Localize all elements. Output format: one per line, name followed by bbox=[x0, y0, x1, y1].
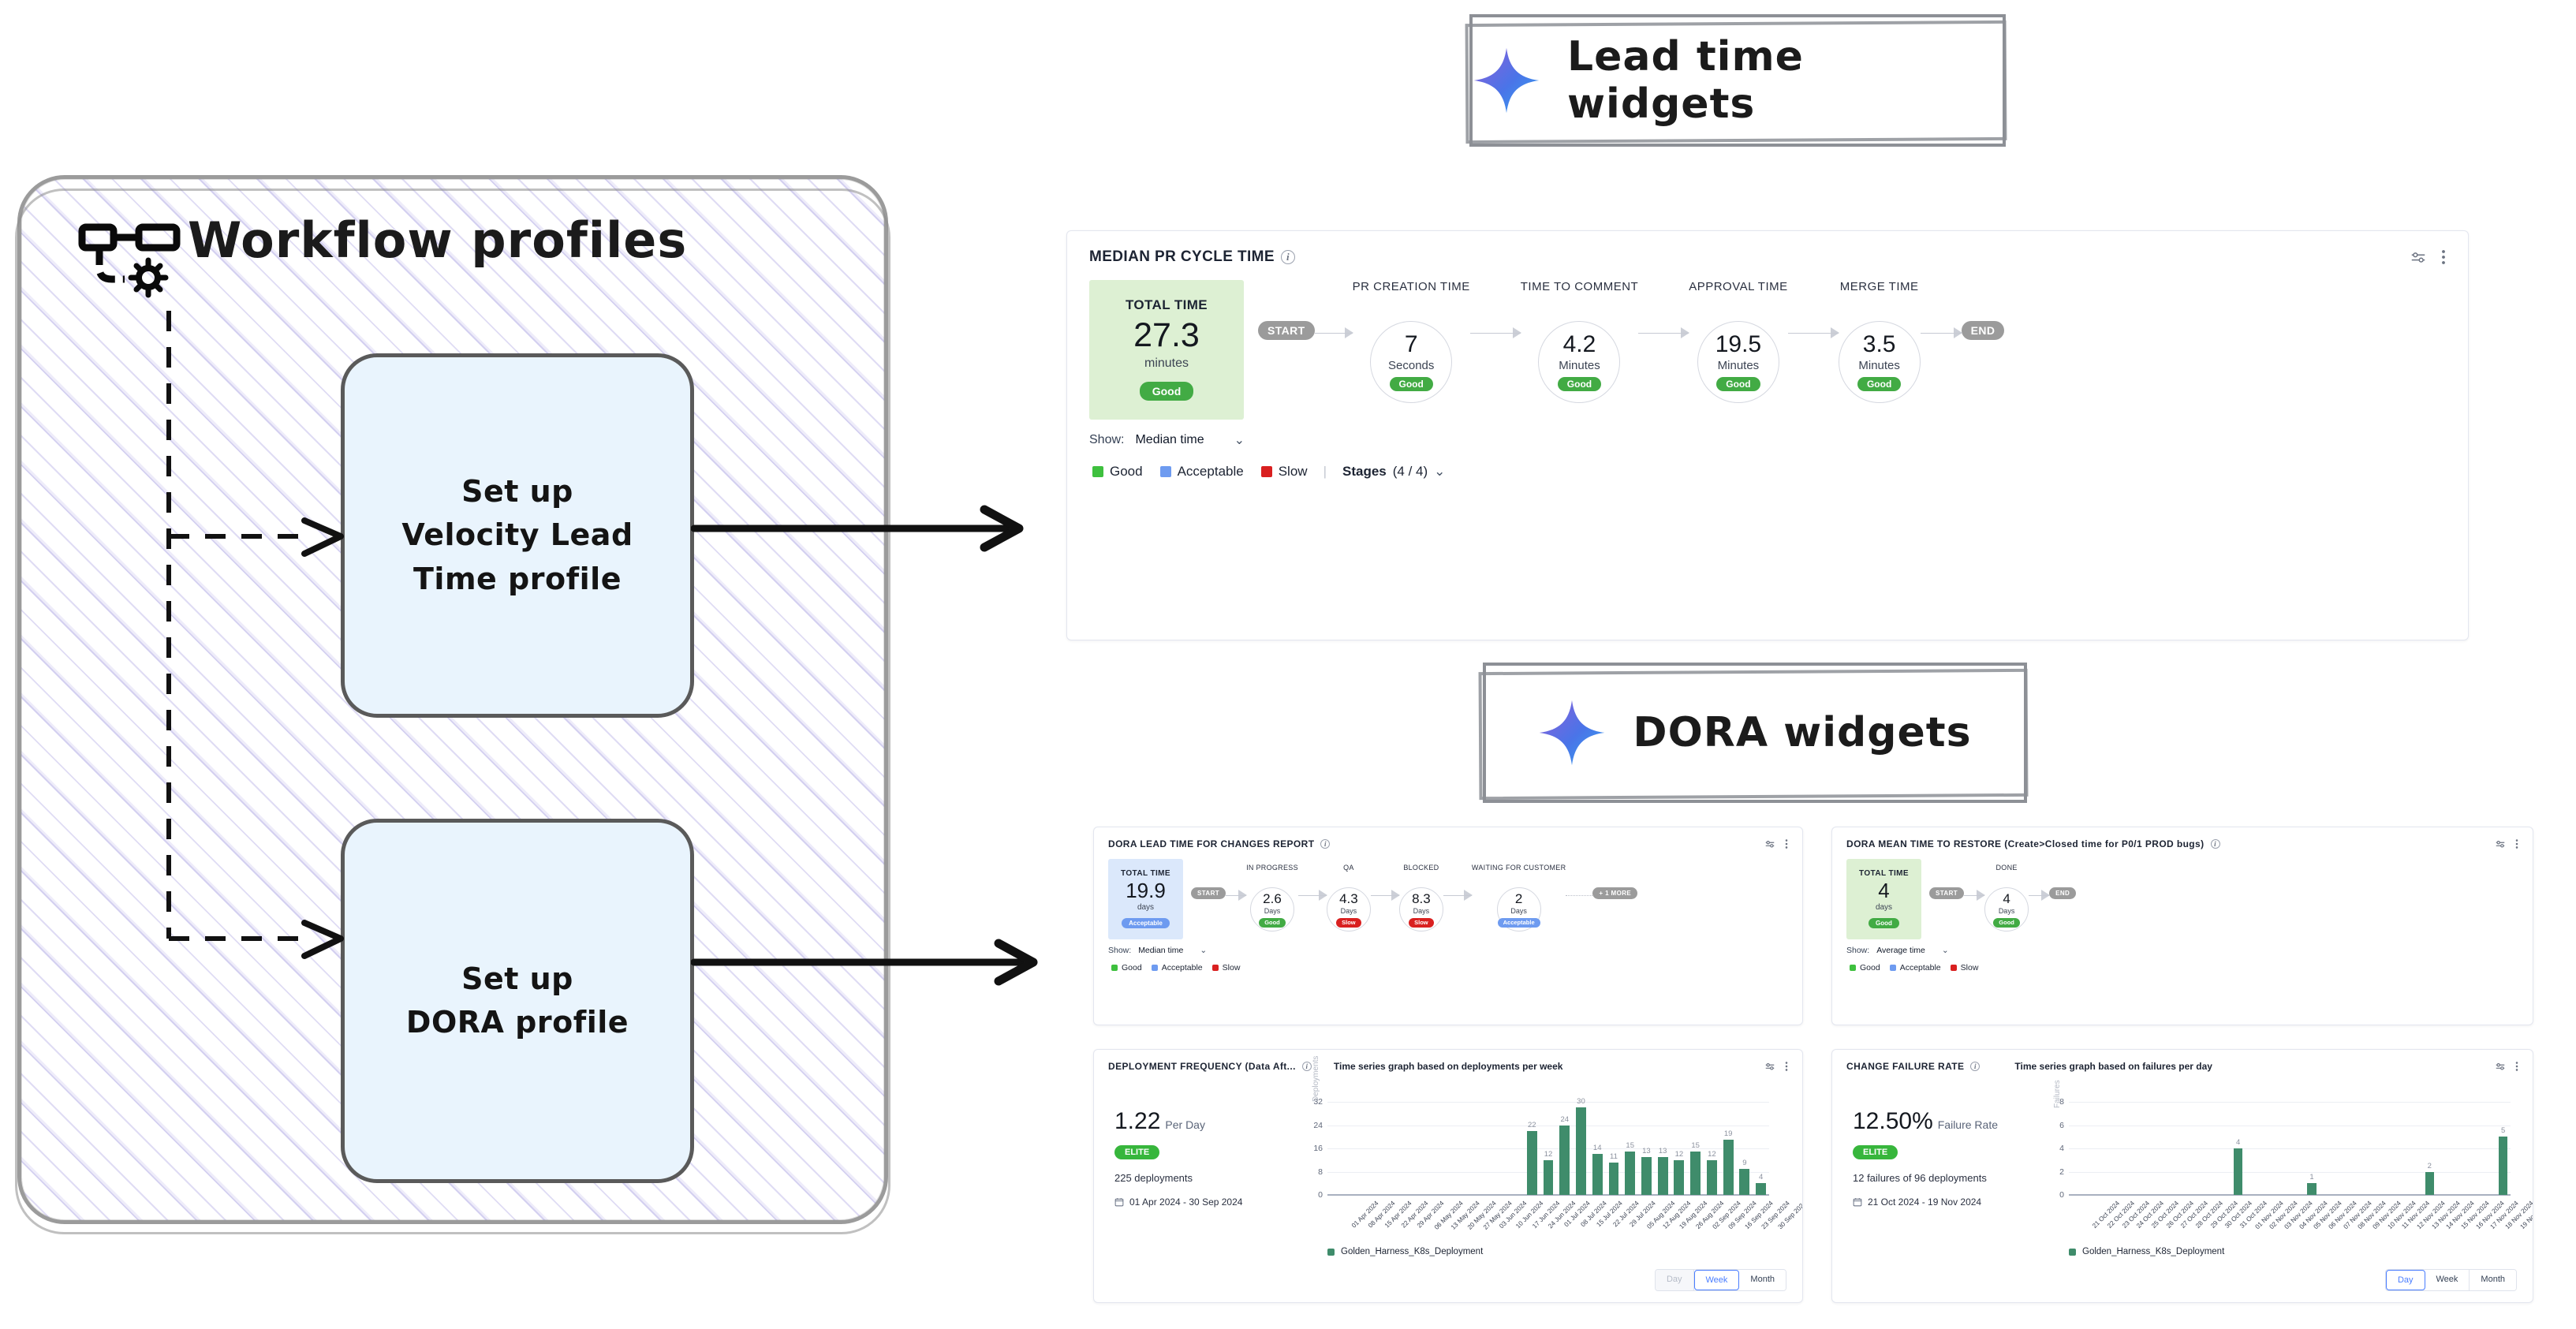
y-axis-tick: 0 bbox=[2045, 1190, 2064, 1200]
more-vertical-icon[interactable] bbox=[2515, 838, 2518, 849]
bar-value-label: 12 bbox=[1675, 1150, 1684, 1159]
sparkle-icon bbox=[1473, 47, 1540, 114]
kpi-block: 1.22 Per Day ELITE 225 deployments 01 Ap… bbox=[1114, 1108, 1280, 1208]
legend-item-acceptable: Acceptable bbox=[1152, 963, 1203, 972]
stage-value: 4.3 bbox=[1339, 892, 1358, 905]
total-time-status-badge: Good bbox=[1869, 918, 1899, 928]
start-cap: START bbox=[1929, 887, 1964, 899]
chevron-down-icon[interactable]: ⌄ bbox=[1434, 464, 1445, 480]
legend-series-label: Golden_Harness_K8s_Deployment bbox=[1341, 1247, 1483, 1256]
stage-value: 19.5 bbox=[1715, 333, 1761, 357]
range-toggle[interactable]: Day Week Month bbox=[2385, 1269, 2517, 1291]
widget-header-actions bbox=[1764, 838, 1788, 849]
stage-label: APPROVAL TIME bbox=[1689, 280, 1787, 297]
stage-label: BLOCKED bbox=[1403, 864, 1439, 875]
kpi-value: 12.50% bbox=[1853, 1108, 1933, 1135]
y-axis-tick: 0 bbox=[1304, 1190, 1323, 1200]
bar[interactable] bbox=[1625, 1152, 1635, 1195]
date-range-row: 21 Oct 2024 - 19 Nov 2024 bbox=[1853, 1196, 2026, 1208]
legend-divider: | bbox=[1323, 464, 1327, 480]
stage-label: MERGE TIME bbox=[1840, 280, 1919, 297]
legend-series-label: Golden_Harness_K8s_Deployment bbox=[2082, 1247, 2224, 1256]
flow-arrow bbox=[1443, 895, 1472, 896]
kpi-row: 12.50% Failure Rate bbox=[1853, 1108, 2026, 1135]
flow-arrow bbox=[2029, 895, 2049, 896]
widget-header-actions bbox=[2410, 248, 2446, 266]
info-icon[interactable]: i bbox=[1320, 839, 1330, 849]
info-icon[interactable]: i bbox=[1970, 1062, 1980, 1071]
stage-circle: 7 Seconds Good bbox=[1370, 321, 1452, 403]
legend-label: Acceptable bbox=[1178, 464, 1244, 480]
range-option-day[interactable]: Day bbox=[2386, 1270, 2425, 1290]
legend: Good Acceptable Slow | Stages (4 / 4) ⌄ bbox=[1092, 464, 2468, 480]
widget-title-row: DORA LEAD TIME FOR CHANGES REPORT i bbox=[1108, 838, 1330, 849]
chevron-down-icon[interactable]: ⌄ bbox=[1942, 946, 1949, 955]
kpi-subtext: 12 failures of 96 deployments bbox=[1853, 1172, 2026, 1184]
sliders-icon[interactable] bbox=[2410, 248, 2427, 266]
show-label: Show: bbox=[1846, 946, 1869, 955]
stage-qa[interactable]: QA 4.3 Days Slow bbox=[1327, 864, 1371, 931]
widget-title: DEPLOYMENT FREQUENCY (Data Aft... bbox=[1108, 1061, 1296, 1072]
show-label: Show: bbox=[1089, 433, 1124, 447]
show-row: Show: Average time ⌄ bbox=[1846, 946, 2533, 955]
banner-label: Lead time widgets bbox=[1567, 33, 2003, 128]
range-option-month[interactable]: Month bbox=[1739, 1270, 1786, 1290]
bar-value-label: 12 bbox=[1544, 1150, 1553, 1159]
stage-unit: Days bbox=[1341, 907, 1357, 915]
change-failure-rate-widget: CHANGE FAILURE RATE i Time series graph … bbox=[1831, 1049, 2533, 1303]
flow-arrow bbox=[1371, 895, 1399, 896]
y-axis-tick: 6 bbox=[2045, 1121, 2064, 1130]
flow-arrow bbox=[1298, 895, 1327, 896]
stage-unit: Seconds bbox=[1388, 359, 1434, 372]
stage-approval-time[interactable]: APPROVAL TIME 19.5 Minutes Good bbox=[1689, 280, 1787, 403]
info-icon[interactable]: i bbox=[2211, 839, 2220, 849]
kpi-unit: Failure Rate bbox=[1938, 1118, 1998, 1131]
stage-value: 7 bbox=[1405, 333, 1418, 357]
total-time-status-badge: Acceptable bbox=[1122, 918, 1170, 928]
stage-value: 8.3 bbox=[1412, 892, 1431, 905]
grid-line bbox=[2069, 1126, 2511, 1126]
date-range: 21 Oct 2024 - 19 Nov 2024 bbox=[1868, 1196, 1981, 1208]
total-time-tile: TOTAL TIME 19.9 days Acceptable bbox=[1108, 859, 1183, 939]
bar[interactable] bbox=[1576, 1107, 1586, 1195]
grid-line bbox=[2069, 1102, 2511, 1103]
grid-line bbox=[1327, 1102, 1769, 1103]
stage-circle: 2.6 Days Good bbox=[1250, 887, 1294, 931]
total-time-label: TOTAL TIME bbox=[1859, 869, 1909, 878]
total-time-tile: TOTAL TIME 4 days Good bbox=[1846, 859, 1921, 939]
stage-in-progress[interactable]: IN PROGRESS 2.6 Days Good bbox=[1246, 864, 1298, 931]
show-value[interactable]: Median time bbox=[1138, 946, 1183, 955]
bar-value-label: 11 bbox=[1610, 1152, 1618, 1161]
legend-swatch bbox=[2069, 1249, 2076, 1256]
stage-circle: 8.3 Days Slow bbox=[1399, 887, 1443, 931]
banner-label: DORA widgets bbox=[1633, 709, 1971, 756]
bar[interactable] bbox=[1609, 1163, 1619, 1195]
stage-done[interactable]: DONE 4 Days Good bbox=[1984, 864, 2029, 931]
stage-label: TIME TO COMMENT bbox=[1521, 280, 1638, 297]
flow-arrow bbox=[1788, 333, 1839, 334]
pr-cycle-flow: TOTAL TIME 27.3 minutes Good START PR CR… bbox=[1067, 266, 2468, 420]
end-label: END bbox=[2049, 887, 2076, 899]
start-cap: START bbox=[1191, 887, 1226, 899]
stage-waiting-for-customer[interactable]: WAITING FOR CUSTOMER 2 Days Acceptable bbox=[1472, 864, 1566, 931]
stage-circle: 3.5 Minutes Good bbox=[1839, 321, 1921, 403]
legend-label: Acceptable bbox=[1900, 963, 1941, 972]
flow-arrow bbox=[1226, 895, 1246, 896]
widget-header: DORA MEAN TIME TO RESTORE (Create>Closed… bbox=[1832, 827, 2533, 849]
stage-status-badge: Slow bbox=[1336, 918, 1361, 928]
stage-value: 2.6 bbox=[1263, 892, 1282, 905]
bar-value-label: 15 bbox=[1691, 1141, 1700, 1150]
deployment-frequency-widget: DEPLOYMENT FREQUENCY (Data Aft... i Time… bbox=[1093, 1049, 1803, 1303]
widget-header: DEPLOYMENT FREQUENCY (Data Aft... i Time… bbox=[1094, 1050, 1802, 1072]
widget-header-actions bbox=[2495, 838, 2518, 849]
widget-title-row: MEDIAN PR CYCLE TIME i bbox=[1089, 248, 1295, 266]
more-label: + 1 MORE bbox=[1592, 887, 1637, 899]
show-value[interactable]: Average time bbox=[1876, 946, 1925, 955]
bar-value-label: 1 bbox=[2309, 1173, 2313, 1182]
grid-line bbox=[1327, 1126, 1769, 1126]
stages-toggle[interactable]: Stages (4 / 4) ⌄ bbox=[1342, 464, 1445, 480]
legend-item-slow: Slow bbox=[1212, 963, 1241, 972]
legend-item-acceptable: Acceptable bbox=[1890, 963, 1941, 972]
stages-toggle-count: (4 / 4) bbox=[1393, 464, 1428, 480]
stage-time-to-comment[interactable]: TIME TO COMMENT 4.2 Minutes Good bbox=[1521, 280, 1638, 403]
deployment-frequency-chart: 0816243201 Apr 202408 Apr 202415 Apr 202… bbox=[1327, 1102, 1769, 1195]
kpi-value: 1.22 bbox=[1114, 1108, 1160, 1135]
flow-arrow bbox=[1315, 333, 1353, 334]
stage-unit: Days bbox=[1413, 907, 1430, 915]
stage-circle: 4.3 Days Slow bbox=[1327, 887, 1371, 931]
rating-badge: ELITE bbox=[1114, 1145, 1159, 1159]
stage-unit: Days bbox=[1264, 907, 1281, 915]
more-vertical-icon[interactable] bbox=[1785, 838, 1788, 849]
bar-value-label: 9 bbox=[1742, 1159, 1746, 1167]
dora-mean-time-to-restore-widget: DORA MEAN TIME TO RESTORE (Create>Closed… bbox=[1831, 827, 2533, 1025]
widget-header-actions bbox=[2495, 1061, 2518, 1072]
stage-label: DONE bbox=[1995, 864, 2017, 875]
widget-header: CHANGE FAILURE RATE i Time series graph … bbox=[1832, 1050, 2533, 1072]
widget-title: MEDIAN PR CYCLE TIME bbox=[1089, 248, 1275, 266]
y-axis-tick: 8 bbox=[1304, 1167, 1323, 1177]
y-axis-label: Failures bbox=[2053, 1080, 2062, 1108]
change-failure-rate-chart: 0246821 Oct 202422 Oct 202423 Oct 202424… bbox=[2069, 1102, 2511, 1195]
node-label: Set up DORA profile bbox=[406, 958, 629, 1044]
show-value[interactable]: Median time bbox=[1135, 433, 1204, 447]
stage-status-badge: Good bbox=[1390, 377, 1433, 391]
stage-list: START IN PROGRESS 2.6 Days Good QA 4.3 D… bbox=[1183, 849, 1802, 931]
bar-value-label: 14 bbox=[1593, 1144, 1602, 1152]
chart-legend: Golden_Harness_K8s_Deployment bbox=[2069, 1247, 2224, 1256]
stage-label: IN PROGRESS bbox=[1246, 864, 1298, 875]
total-time-tile: TOTAL TIME 27.3 minutes Good bbox=[1089, 280, 1244, 420]
x-axis-line bbox=[2069, 1194, 2511, 1195]
stage-circle: 4 Days Good bbox=[1984, 887, 2029, 931]
stage-status-badge: Good bbox=[1558, 377, 1601, 391]
total-time-status-badge: Good bbox=[1140, 382, 1194, 401]
dashed-branch-connector bbox=[158, 308, 394, 962]
bar-value-label: 30 bbox=[1577, 1097, 1585, 1106]
show-row: Show: Median time ⌄ bbox=[1108, 946, 1802, 955]
calendar-icon bbox=[1853, 1197, 1862, 1207]
chart-legend: Golden_Harness_K8s_Deployment bbox=[1327, 1247, 1483, 1256]
flow-dotted-connector bbox=[1566, 895, 1592, 896]
end-cap: END bbox=[2049, 887, 2076, 899]
widget-title: CHANGE FAILURE RATE bbox=[1846, 1061, 1964, 1072]
arrow-dora-to-widget bbox=[691, 931, 1062, 994]
legend-label: Slow bbox=[1223, 963, 1241, 972]
total-time-label: TOTAL TIME bbox=[1126, 297, 1208, 313]
stage-status-badge: Good bbox=[1993, 918, 2020, 928]
bar[interactable] bbox=[1756, 1183, 1766, 1195]
bar[interactable] bbox=[1707, 1160, 1717, 1195]
info-icon[interactable]: i bbox=[1281, 250, 1295, 264]
total-time-value: 19.9 bbox=[1126, 880, 1166, 902]
bar[interactable] bbox=[2234, 1148, 2243, 1195]
bar-value-label: 4 bbox=[2236, 1138, 2240, 1147]
stage-merge-time[interactable]: MERGE TIME 3.5 Minutes Good bbox=[1839, 280, 1921, 403]
y-axis-tick: 24 bbox=[1304, 1121, 1323, 1130]
dora-lead-time-flow: TOTAL TIME 19.9 days Acceptable START IN… bbox=[1094, 849, 1802, 939]
bar[interactable] bbox=[2499, 1137, 2508, 1195]
stage-pr-creation-time[interactable]: PR CREATION TIME 7 Seconds Good bbox=[1353, 280, 1470, 403]
bar-value-label: 4 bbox=[1759, 1173, 1763, 1182]
total-time-label: TOTAL TIME bbox=[1121, 869, 1170, 878]
bar[interactable] bbox=[1658, 1157, 1668, 1195]
stage-status-badge: Good bbox=[1716, 377, 1760, 391]
widget-title: DORA LEAD TIME FOR CHANGES REPORT bbox=[1108, 838, 1314, 849]
legend-item-acceptable: Acceptable bbox=[1160, 464, 1244, 480]
legend-item-good: Good bbox=[1092, 464, 1143, 480]
legend-item-good: Good bbox=[1111, 963, 1142, 972]
bar-value-label: 15 bbox=[1626, 1141, 1634, 1150]
widget-title-row: DEPLOYMENT FREQUENCY (Data Aft... i Time… bbox=[1108, 1061, 1562, 1072]
kpi-subtext: 225 deployments bbox=[1114, 1172, 1280, 1184]
stage-circle: 2 Days Acceptable bbox=[1497, 887, 1541, 931]
dora-mttr-flow: TOTAL TIME 4 days Good START DONE 4 Days… bbox=[1832, 849, 2533, 939]
stage-unit: Minutes bbox=[1858, 359, 1900, 372]
kpi-block: 12.50% Failure Rate ELITE 12 failures of… bbox=[1853, 1108, 2026, 1208]
stage-status-badge: Acceptable bbox=[1498, 918, 1540, 928]
bar-value-label: 24 bbox=[1560, 1115, 1569, 1124]
flow-arrow bbox=[1964, 895, 1984, 896]
chevron-down-icon[interactable]: ⌄ bbox=[1200, 946, 1207, 955]
calendar-icon bbox=[1114, 1197, 1124, 1207]
flow-arrow bbox=[1638, 333, 1689, 334]
stage-status-badge: Good bbox=[1259, 918, 1286, 928]
chart-title: Time series graph based on failures per … bbox=[2014, 1061, 2212, 1072]
y-axis-tick: 4 bbox=[2045, 1144, 2064, 1153]
legend-item-good: Good bbox=[1850, 963, 1880, 972]
y-axis-label: Deployments bbox=[1312, 1056, 1320, 1102]
bar-value-label: 19 bbox=[1724, 1129, 1733, 1138]
bar-value-label: 13 bbox=[1659, 1147, 1667, 1155]
legend: Good Acceptable Slow bbox=[1850, 963, 2533, 972]
more-vertical-icon[interactable] bbox=[2441, 248, 2446, 266]
arrow-velocity-to-widget bbox=[691, 497, 1046, 560]
date-range: 01 Apr 2024 - 30 Sep 2024 bbox=[1129, 1196, 1242, 1208]
more-stages-cap[interactable]: + 1 MORE bbox=[1592, 887, 1637, 899]
total-time-unit: days bbox=[1137, 903, 1154, 912]
stage-list: START DONE 4 Days Good END bbox=[1921, 849, 2533, 931]
workflow-settings-icon bbox=[76, 219, 186, 306]
bar[interactable] bbox=[2425, 1172, 2435, 1196]
bar[interactable] bbox=[1641, 1157, 1652, 1195]
legend: Good Acceptable Slow bbox=[1111, 963, 1802, 972]
bar-value-label: 22 bbox=[1528, 1121, 1536, 1129]
grid-line bbox=[2069, 1148, 2511, 1149]
sliders-icon[interactable] bbox=[1764, 838, 1775, 849]
legend-label: Good bbox=[1860, 963, 1880, 972]
widget-header: DORA LEAD TIME FOR CHANGES REPORT i bbox=[1094, 827, 1802, 849]
bar[interactable] bbox=[1559, 1126, 1570, 1196]
end-cap: END bbox=[1962, 321, 2005, 340]
stage-unit: Minutes bbox=[1559, 359, 1600, 372]
rating-badge: ELITE bbox=[1853, 1145, 1898, 1159]
stage-value: 4.2 bbox=[1563, 333, 1596, 357]
widget-title: DORA MEAN TIME TO RESTORE (Create>Closed… bbox=[1846, 838, 2205, 849]
bar-value-label: 5 bbox=[2501, 1126, 2505, 1135]
widget-title-row: CHANGE FAILURE RATE i Time series graph … bbox=[1846, 1061, 2212, 1072]
legend-label: Good bbox=[1110, 464, 1143, 480]
bar[interactable] bbox=[1739, 1169, 1749, 1195]
legend-label: Good bbox=[1122, 963, 1142, 972]
stage-list: START PR CREATION TIME 7 Seconds Good TI… bbox=[1244, 266, 2468, 403]
start-label: START bbox=[1191, 887, 1226, 899]
banner-dora-widgets: DORA widgets bbox=[1483, 663, 2027, 803]
widget-header: MEDIAN PR CYCLE TIME i bbox=[1067, 231, 2468, 266]
start-label: START bbox=[1258, 321, 1315, 340]
range-option-week[interactable]: Week bbox=[1694, 1270, 1740, 1290]
stage-circle: 19.5 Minutes Good bbox=[1697, 321, 1779, 403]
bar[interactable] bbox=[1592, 1154, 1603, 1195]
legend-item-slow: Slow bbox=[1951, 963, 1979, 972]
dora-lead-time-widget: DORA LEAD TIME FOR CHANGES REPORT i TOTA… bbox=[1093, 827, 1803, 1025]
stage-status-badge: Slow bbox=[1409, 918, 1434, 928]
bar-value-label: 2 bbox=[2428, 1162, 2432, 1170]
legend-swatch bbox=[1327, 1249, 1335, 1256]
legend-label: Acceptable bbox=[1162, 963, 1203, 972]
chevron-down-icon[interactable]: ⌄ bbox=[1234, 432, 1245, 448]
start-label: START bbox=[1929, 887, 1964, 899]
date-range-row: 01 Apr 2024 - 30 Sep 2024 bbox=[1114, 1196, 1280, 1208]
stage-value: 3.5 bbox=[1863, 333, 1896, 357]
range-option-month[interactable]: Month bbox=[2470, 1270, 2516, 1290]
kpi-row: 1.22 Per Day bbox=[1114, 1108, 1280, 1135]
end-label: END bbox=[1962, 321, 2005, 340]
legend-label: Slow bbox=[1961, 963, 1979, 972]
stage-label: QA bbox=[1343, 864, 1354, 875]
stage-value: 2 bbox=[1515, 892, 1522, 905]
page-title: Workflow profiles bbox=[188, 211, 687, 269]
range-option-week[interactable]: Week bbox=[2425, 1270, 2470, 1290]
show-label: Show: bbox=[1108, 946, 1131, 955]
median-pr-cycle-time-widget: MEDIAN PR CYCLE TIME i TOTAL TIME 27.3 m… bbox=[1066, 230, 2469, 640]
more-vertical-icon[interactable] bbox=[1785, 1061, 1788, 1072]
node-label: Set up Velocity Lead Time profile bbox=[401, 470, 633, 600]
stage-label: WAITING FOR CUSTOMER bbox=[1472, 864, 1566, 875]
stage-unit: Days bbox=[1999, 907, 2015, 915]
range-option-day[interactable]: Day bbox=[1656, 1270, 1694, 1290]
start-cap: START bbox=[1258, 321, 1315, 340]
stage-value: 4 bbox=[2003, 892, 2010, 905]
y-axis-tick: 16 bbox=[1304, 1144, 1323, 1153]
legend-label: Slow bbox=[1279, 464, 1308, 480]
stage-blocked[interactable]: BLOCKED 8.3 Days Slow bbox=[1399, 864, 1443, 931]
flow-arrow bbox=[1921, 333, 1962, 334]
more-vertical-icon[interactable] bbox=[2515, 1061, 2518, 1072]
widget-title-row: DORA MEAN TIME TO RESTORE (Create>Closed… bbox=[1846, 838, 2220, 849]
widget-header-actions bbox=[1764, 1061, 1788, 1072]
chart-title: Time series graph based on deployments p… bbox=[1334, 1061, 1563, 1072]
sliders-icon[interactable] bbox=[1764, 1061, 1775, 1072]
sliders-icon[interactable] bbox=[2495, 1061, 2506, 1072]
total-time-value: 27.3 bbox=[1133, 318, 1200, 353]
total-time-unit: days bbox=[1876, 903, 1892, 912]
total-time-value: 4 bbox=[1878, 880, 1889, 902]
stage-circle: 4.2 Minutes Good bbox=[1538, 321, 1620, 403]
info-icon[interactable]: i bbox=[1302, 1062, 1312, 1071]
bar[interactable] bbox=[2307, 1183, 2317, 1195]
bar-value-label: 13 bbox=[1642, 1147, 1651, 1155]
bar[interactable] bbox=[1674, 1160, 1684, 1195]
stage-label: PR CREATION TIME bbox=[1353, 280, 1470, 297]
bar[interactable] bbox=[1544, 1160, 1554, 1195]
bar[interactable] bbox=[1723, 1140, 1734, 1195]
stage-status-badge: Good bbox=[1857, 377, 1901, 391]
sparkle-icon bbox=[1538, 699, 1606, 767]
banner-lead-time-widgets: Lead time widgets bbox=[1469, 14, 2006, 147]
legend-item-slow: Slow bbox=[1261, 464, 1308, 480]
bar[interactable] bbox=[1690, 1152, 1701, 1195]
y-axis-tick: 2 bbox=[2045, 1167, 2064, 1177]
stages-toggle-label: Stages bbox=[1342, 464, 1387, 480]
stage-unit: Minutes bbox=[1718, 359, 1760, 372]
total-time-unit: minutes bbox=[1144, 357, 1189, 371]
flow-arrow bbox=[1470, 333, 1521, 334]
sliders-icon[interactable] bbox=[2495, 838, 2506, 849]
bar[interactable] bbox=[1527, 1131, 1537, 1195]
show-row: Show: Median time ⌄ bbox=[1089, 432, 2468, 448]
grid-line bbox=[2069, 1172, 2511, 1173]
stage-unit: Days bbox=[1510, 907, 1527, 915]
kpi-unit: Per Day bbox=[1165, 1118, 1205, 1131]
range-toggle[interactable]: Day Week Month bbox=[1655, 1269, 1786, 1291]
bar-value-label: 12 bbox=[1708, 1150, 1716, 1159]
